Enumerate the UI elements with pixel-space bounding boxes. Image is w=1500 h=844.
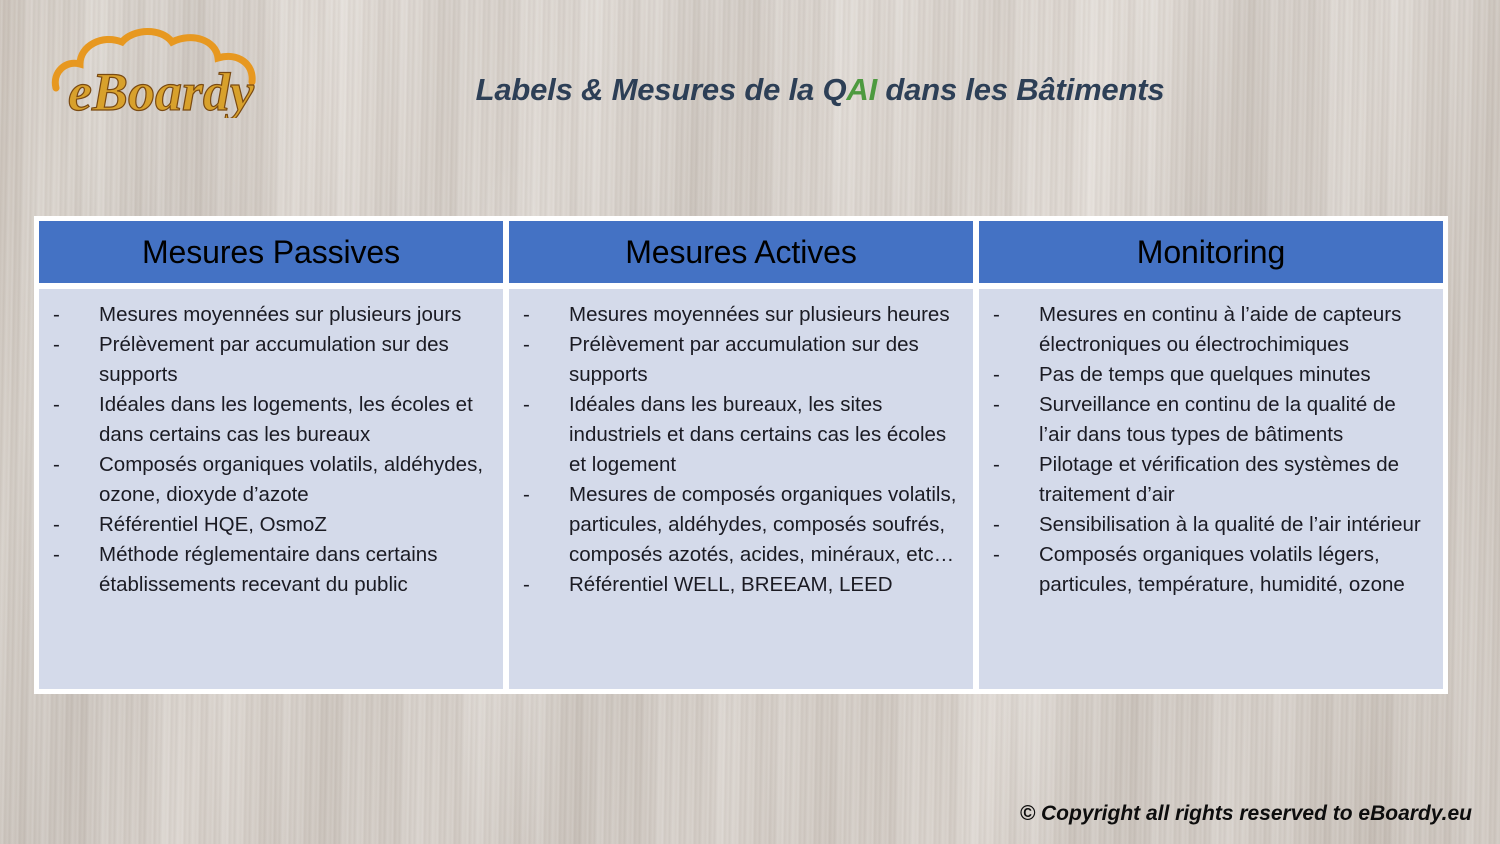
list-item: - Mesures en continu à l’aide de capteur…	[993, 300, 1429, 360]
list-item: - Composés organiques volatils, aldéhyde…	[53, 450, 489, 510]
list-item-label: Référentiel HQE, OsmoZ	[99, 510, 489, 540]
list-item-label: Idéales dans les bureaux, les sites indu…	[569, 390, 959, 480]
list-item-label: Surveillance en continu de la qualité de…	[1039, 390, 1429, 450]
bullet-list-mesures-passives: - Mesures moyennées sur plusieurs jours …	[53, 300, 489, 600]
bullet-dash-icon: -	[993, 300, 1039, 360]
bullet-dash-icon: -	[523, 390, 569, 480]
page-title-prefix: Labels & Mesures de la Q	[476, 72, 847, 107]
bullet-dash-icon: -	[993, 540, 1039, 600]
list-item-label: Mesures moyennées sur plusieurs heures	[569, 300, 959, 330]
list-item-label: Prélèvement par accumulation sur des sup…	[99, 330, 489, 390]
list-item: - Méthode réglementaire dans certains ét…	[53, 540, 489, 600]
bullet-list-monitoring: - Mesures en continu à l’aide de capteur…	[993, 300, 1429, 600]
list-item: - Prélèvement par accumulation sur des s…	[523, 330, 959, 390]
table-body-row: - Mesures moyennées sur plusieurs jours …	[39, 289, 1443, 689]
measures-comparison-table: Mesures Passives Mesures Actives Monitor…	[34, 216, 1448, 694]
list-item: - Référentiel WELL, BREEAM, LEED	[523, 570, 959, 600]
bullet-dash-icon: -	[53, 450, 99, 510]
list-item: - Mesures moyennées sur plusieurs jours	[53, 300, 489, 330]
bullet-dash-icon: -	[523, 570, 569, 600]
bullet-dash-icon: -	[993, 360, 1039, 390]
list-item: - Pilotage et vérification des systèmes …	[993, 450, 1429, 510]
list-item: - Surveillance en continu de la qualité …	[993, 390, 1429, 450]
list-item: - Pas de temps que quelques minutes	[993, 360, 1429, 390]
table-header-row: Mesures Passives Mesures Actives Monitor…	[39, 221, 1443, 283]
bullet-dash-icon: -	[53, 330, 99, 390]
bullet-dash-icon: -	[523, 480, 569, 570]
table-cell-mesures-passives: - Mesures moyennées sur plusieurs jours …	[39, 289, 503, 689]
list-item-label: Composés organiques volatils, aldéhydes,…	[99, 450, 489, 510]
list-item: - Mesures moyennées sur plusieurs heures	[523, 300, 959, 330]
list-item-label: Pas de temps que quelques minutes	[1039, 360, 1429, 390]
list-item-label: Mesures moyennées sur plusieurs jours	[99, 300, 489, 330]
table-cell-mesures-actives: - Mesures moyennées sur plusieurs heures…	[509, 289, 973, 689]
slide-canvas: eBoardy Labels & Mesures de la QAI dans …	[0, 0, 1500, 844]
list-item-label: Mesures en continu à l’aide de capteurs …	[1039, 300, 1429, 360]
table-header-monitoring: Monitoring	[979, 221, 1443, 283]
bullet-dash-icon: -	[53, 540, 99, 600]
list-item-label: Mesures de composés organiques volatils,…	[569, 480, 959, 570]
list-item-label: Prélèvement par accumulation sur des sup…	[569, 330, 959, 390]
page-title-suffix: dans les Bâtiments	[877, 72, 1164, 107]
list-item: - Idéales dans les bureaux, les sites in…	[523, 390, 959, 480]
table-header-mesures-passives: Mesures Passives	[39, 221, 503, 283]
copyright-notice: © Copyright all rights reserved to eBoar…	[1020, 802, 1472, 826]
list-item: - Idéales dans les logements, les écoles…	[53, 390, 489, 450]
list-item-label: Méthode réglementaire dans certains étab…	[99, 540, 489, 600]
page-title: Labels & Mesures de la QAI dans les Bâti…	[0, 72, 1500, 108]
list-item: - Mesures de composés organiques volatil…	[523, 480, 959, 570]
list-item-label: Référentiel WELL, BREEAM, LEED	[569, 570, 959, 600]
bullet-dash-icon: -	[993, 510, 1039, 540]
list-item: - Référentiel HQE, OsmoZ	[53, 510, 489, 540]
bullet-dash-icon: -	[523, 330, 569, 390]
page-title-accent: AI	[846, 72, 877, 107]
bullet-dash-icon: -	[993, 390, 1039, 450]
list-item-label: Pilotage et vérification des systèmes de…	[1039, 450, 1429, 510]
bullet-list-mesures-actives: - Mesures moyennées sur plusieurs heures…	[523, 300, 959, 600]
bullet-dash-icon: -	[53, 300, 99, 330]
list-item-label: Sensibilisation à la qualité de l’air in…	[1039, 510, 1429, 540]
table-header-mesures-actives: Mesures Actives	[509, 221, 973, 283]
list-item-label: Composés organiques volatils légers, par…	[1039, 540, 1429, 600]
bullet-dash-icon: -	[993, 450, 1039, 510]
list-item: - Prélèvement par accumulation sur des s…	[53, 330, 489, 390]
bullet-dash-icon: -	[53, 510, 99, 540]
bullet-dash-icon: -	[53, 390, 99, 450]
list-item: - Sensibilisation à la qualité de l’air …	[993, 510, 1429, 540]
bullet-dash-icon: -	[523, 300, 569, 330]
list-item: - Composés organiques volatils légers, p…	[993, 540, 1429, 600]
list-item-label: Idéales dans les logements, les écoles e…	[99, 390, 489, 450]
table-cell-monitoring: - Mesures en continu à l’aide de capteur…	[979, 289, 1443, 689]
